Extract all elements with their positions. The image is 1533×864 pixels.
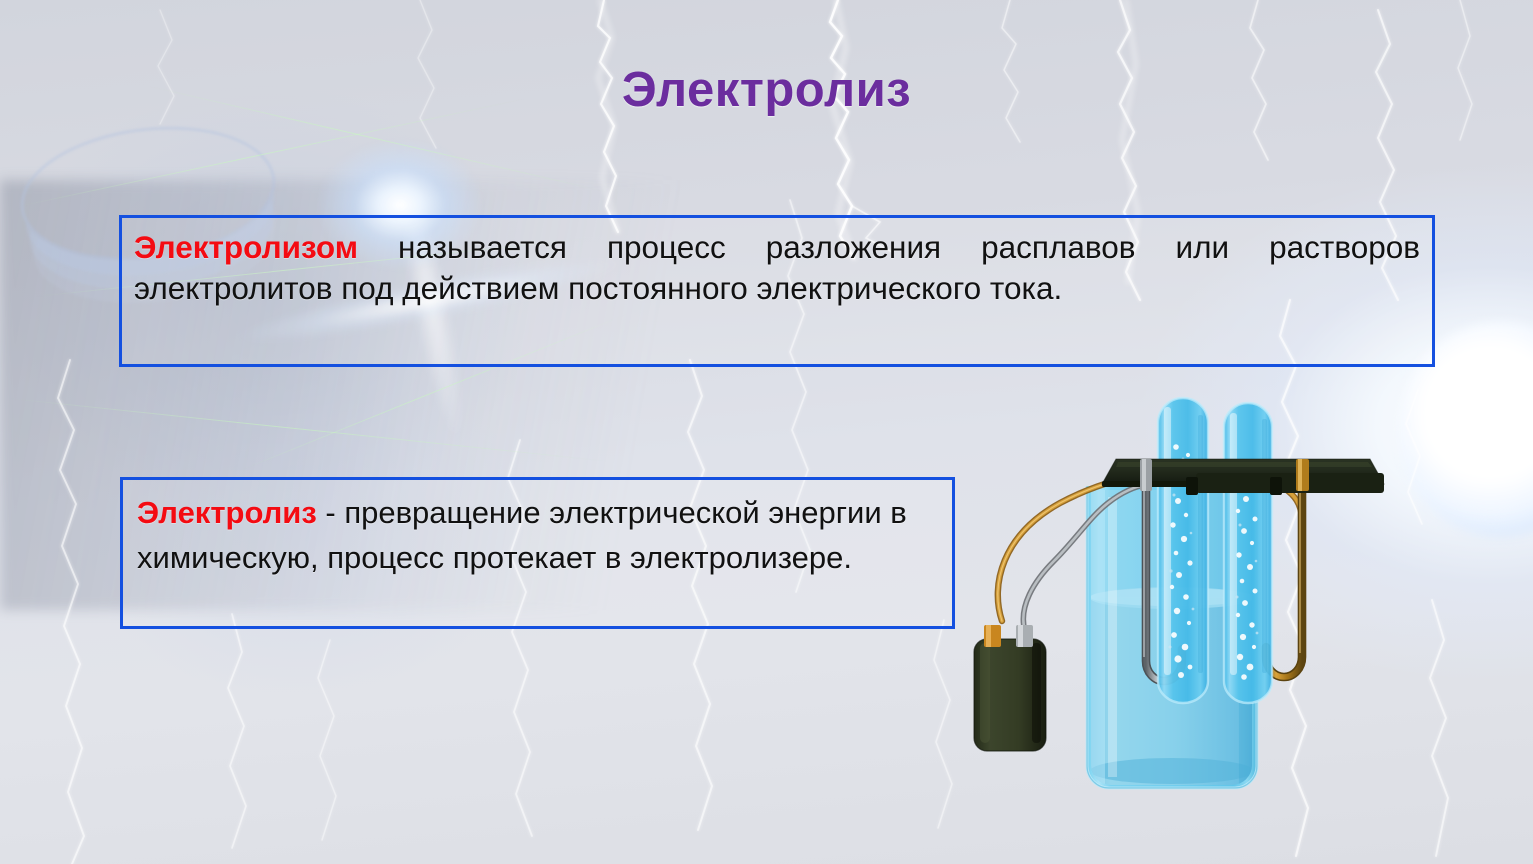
electrode-collar-left <box>1140 459 1152 491</box>
definition-lead-word: Электролизом <box>134 229 358 265</box>
definition-paragraph: Электролизом называется процесс разложен… <box>134 227 1420 309</box>
test-tube-left <box>1158 398 1208 703</box>
definition-textbox: Электролизом называется процесс разложен… <box>119 215 1435 367</box>
conversion-textbox: Электролиз - превращение электрической э… <box>120 477 955 629</box>
conversion-lead-word: Электролиз <box>137 495 317 530</box>
electrolysis-apparatus-illustration <box>950 385 1405 815</box>
electrode-collar-right <box>1296 459 1309 491</box>
battery-terminal-positive <box>984 625 1001 647</box>
conversion-paragraph: Электролиз - превращение электрической э… <box>137 490 938 580</box>
slide-title: Электролиз <box>0 62 1533 118</box>
battery <box>974 625 1046 751</box>
battery-terminal-negative <box>1016 625 1033 647</box>
slide-canvas: Электролиз Электролизом называется проце… <box>0 0 1533 864</box>
test-tube-right <box>1224 403 1272 703</box>
